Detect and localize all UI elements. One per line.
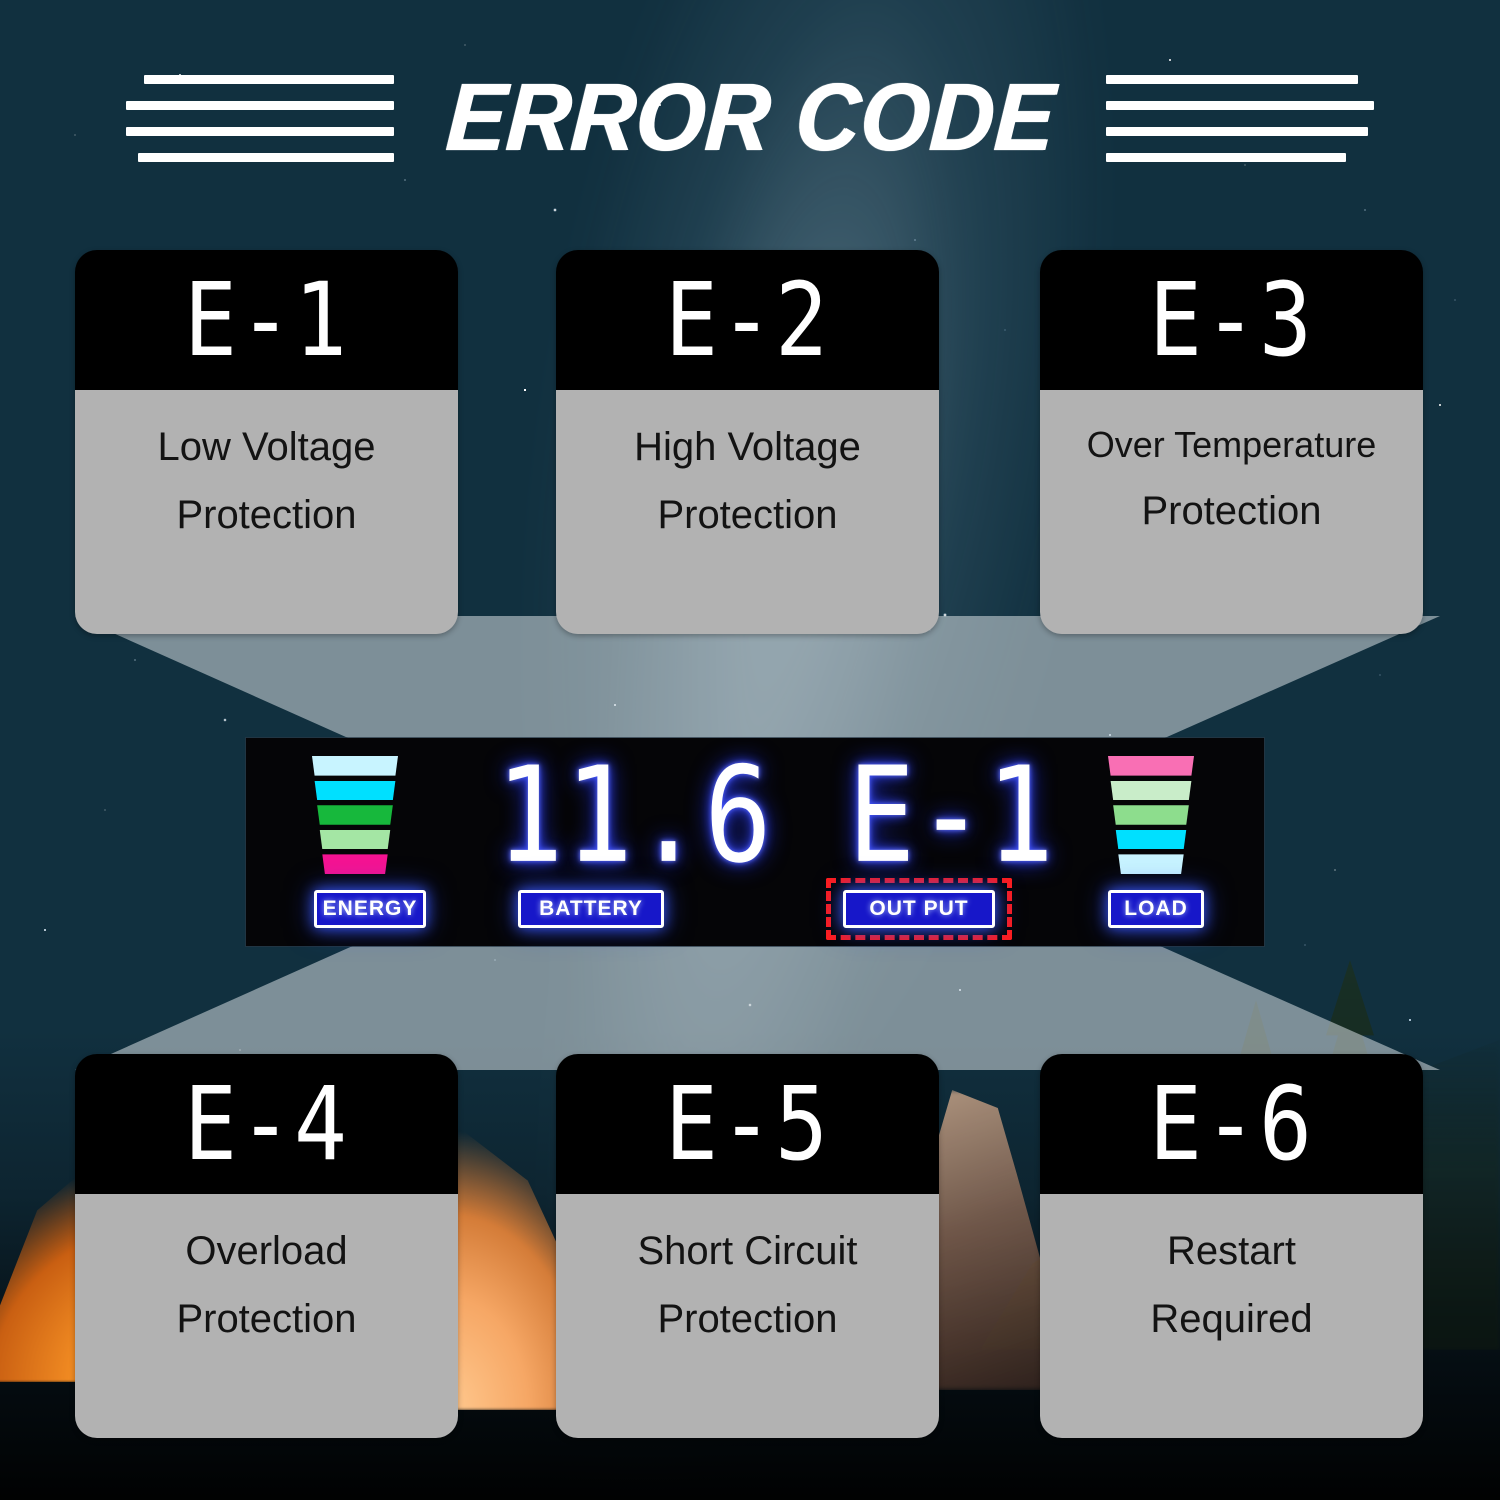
error-card-e3[interactable]: E-3 Over Temperature Protection	[1040, 250, 1423, 634]
voltage-reading: 11.6	[496, 750, 774, 882]
badge-battery: BATTERY	[518, 890, 664, 928]
energy-bar-segment	[312, 756, 398, 776]
error-card-e5[interactable]: E-5 Short Circuit Protection	[556, 1054, 939, 1438]
decor-line	[126, 101, 394, 110]
decor-lines-right	[1106, 75, 1374, 162]
load-bar-segment	[1108, 805, 1194, 825]
page-header: ERROR CODE	[0, 58, 1500, 178]
load-bar-segment	[1108, 781, 1194, 801]
load-bar-segment	[1108, 854, 1194, 874]
page-title: ERROR CODE	[419, 70, 1081, 166]
lcd-readout: 11.6 E-1	[496, 752, 1056, 880]
error-code-label: E-1	[184, 269, 349, 371]
error-code-display: E-3	[1040, 250, 1423, 390]
error-card-e2[interactable]: E-2 High Voltage Protection	[556, 250, 939, 634]
load-bar-segment	[1108, 756, 1194, 776]
badge-output: OUT PUT	[843, 890, 995, 928]
decor-line	[1106, 75, 1358, 84]
error-description-line2: Protection	[176, 1298, 356, 1340]
error-description-line2: Protection	[176, 494, 356, 536]
error-code-display: E-6	[1040, 1054, 1423, 1194]
load-bar-segment	[1108, 830, 1194, 850]
error-description-line1: Low Voltage	[158, 426, 376, 468]
decor-line	[138, 153, 394, 162]
error-description: Restart Required	[1040, 1194, 1423, 1438]
error-code-display: E-2	[556, 250, 939, 390]
decor-line	[126, 127, 394, 136]
error-code-label: E-5	[665, 1073, 830, 1175]
lcd-display-panel: 11.6 E-1 ENERGY BATTERY OUT PUT LOAD	[246, 738, 1264, 946]
lcd-badge-row: ENERGY BATTERY OUT PUT LOAD	[246, 890, 1264, 934]
energy-bar-segment	[312, 830, 398, 850]
error-code-label: E-4	[184, 1073, 349, 1175]
error-code-display: E-1	[75, 250, 458, 390]
load-level-bar	[1108, 756, 1194, 874]
error-description-line2: Protection	[657, 494, 837, 536]
decor-line	[1106, 101, 1374, 110]
badge-load: LOAD	[1108, 890, 1204, 928]
energy-level-bar	[312, 756, 398, 874]
decor-line	[1106, 127, 1368, 136]
error-code-label: E-2	[665, 269, 830, 371]
decor-lines-left	[126, 75, 394, 162]
error-card-e1[interactable]: E-1 Low Voltage Protection	[75, 250, 458, 634]
error-description-line1: Short Circuit	[637, 1230, 857, 1272]
error-description-line2: Protection	[657, 1298, 837, 1340]
error-description: Over Temperature Protection	[1040, 390, 1423, 634]
error-card-e4[interactable]: E-4 Overload Protection	[75, 1054, 458, 1438]
error-card-e6[interactable]: E-6 Restart Required	[1040, 1054, 1423, 1438]
energy-bar-segment	[312, 781, 398, 801]
error-code-label: E-3	[1149, 269, 1314, 371]
decor-line	[1106, 153, 1346, 162]
error-code-display: E-5	[556, 1054, 939, 1194]
error-description: Overload Protection	[75, 1194, 458, 1438]
error-description: Short Circuit Protection	[556, 1194, 939, 1438]
error-description-line1: Over Temperature	[1087, 426, 1376, 464]
error-description: High Voltage Protection	[556, 390, 939, 634]
energy-bar-segment	[312, 805, 398, 825]
error-code-label: E-6	[1149, 1073, 1314, 1175]
energy-bar-segment	[312, 854, 398, 874]
error-code-display: E-4	[75, 1054, 458, 1194]
error-description-line1: Restart	[1167, 1230, 1296, 1272]
error-description-line2: Required	[1150, 1298, 1312, 1340]
badge-energy: ENERGY	[314, 890, 426, 928]
error-code-reading: E-1	[848, 750, 1056, 882]
error-description-line1: Overload	[185, 1230, 347, 1272]
decor-line	[144, 75, 394, 84]
error-description: Low Voltage Protection	[75, 390, 458, 634]
error-description-line2: Protection	[1141, 490, 1321, 532]
error-description-line1: High Voltage	[634, 426, 861, 468]
